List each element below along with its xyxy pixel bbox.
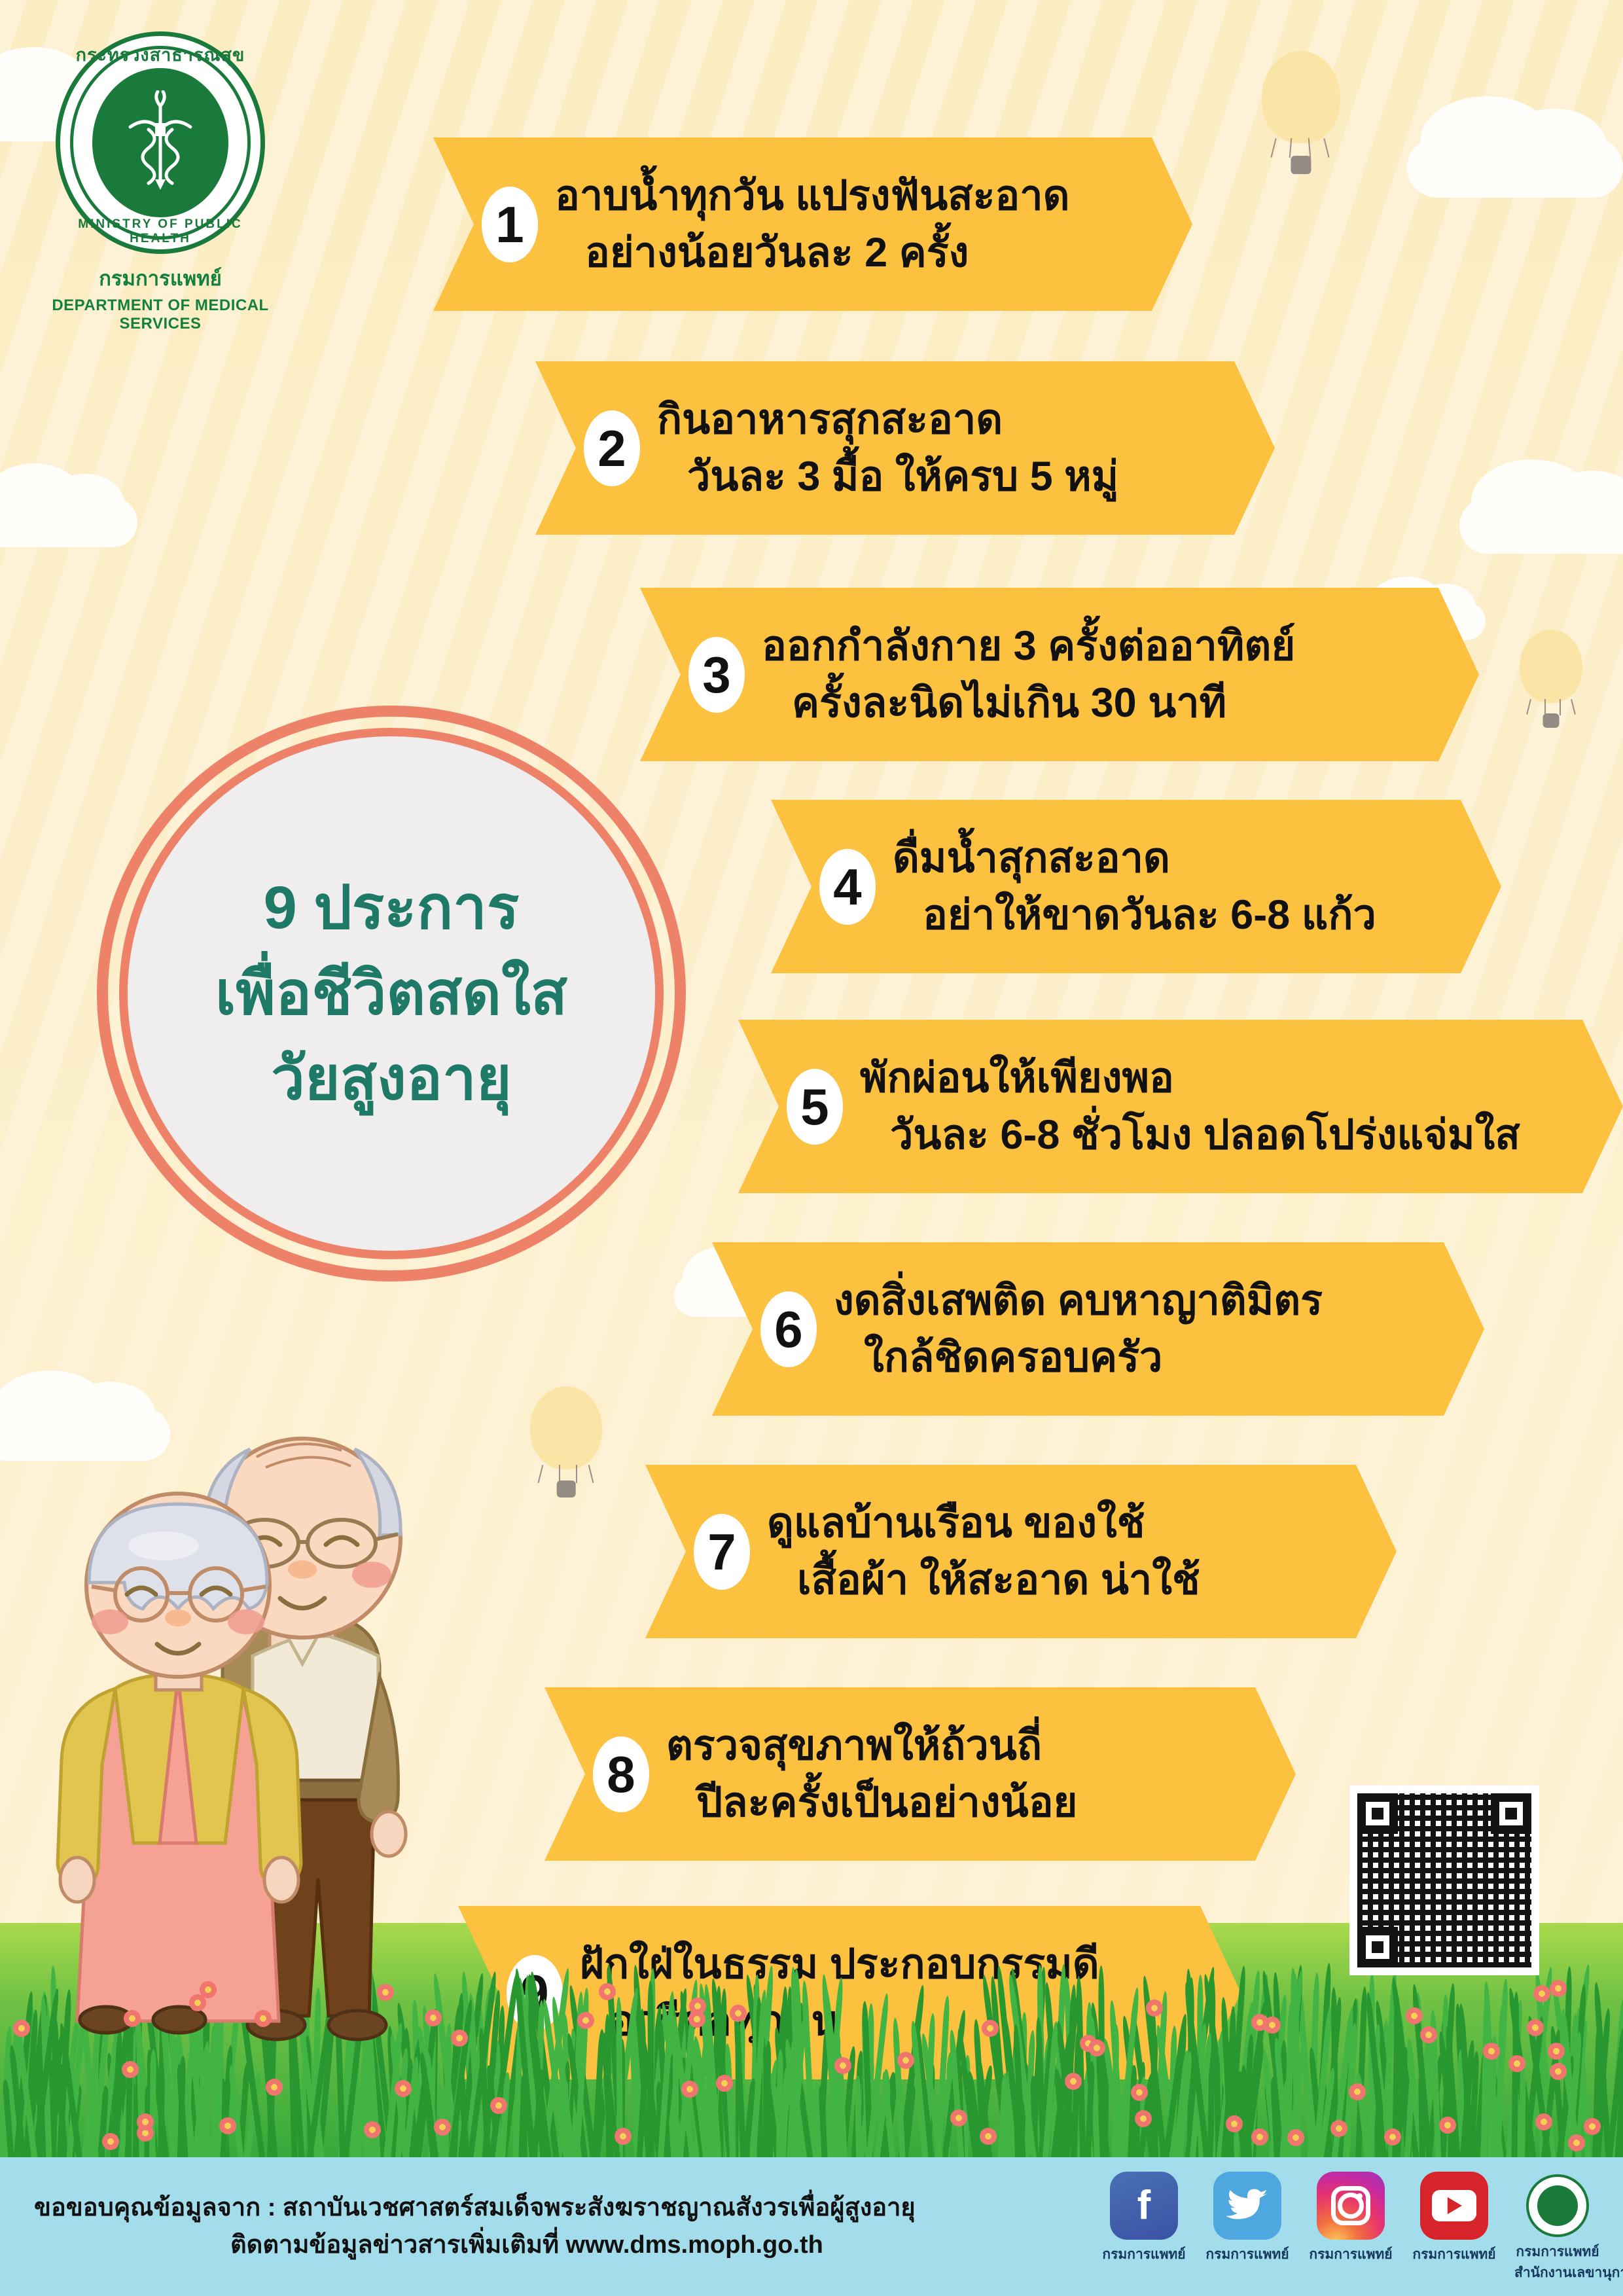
social-link-twitter[interactable]: กรมการแพทย์ — [1204, 2172, 1291, 2265]
tip-text: ดื่มน้ำสุกสะอาด อย่าให้ขาดวันละ 6-8 แก้ว — [893, 830, 1376, 944]
facebook-icon[interactable]: f — [1110, 2172, 1178, 2240]
social-caption-secondary: สำนักงานเลขานุการกรม — [1514, 2265, 1601, 2282]
tip-banner-8[interactable]: 8 ตรวจสุขภาพให้ถ้วนถี่ ปีละครั้งเป็นอย่า… — [544, 1687, 1296, 1861]
title-line-2: เพื่อชีวิตสดใส — [215, 951, 567, 1037]
tip-line-2: วันละ 6-8 ชั่วโมง ปลอดโปร่งแจ่มใส — [860, 1107, 1520, 1164]
tip-text: พักผ่อนให้เพียงพอ วันละ 6-8 ชั่วโมง ปลอด… — [860, 1050, 1520, 1164]
title-line-3: วัยสูงอายุ — [271, 1036, 511, 1122]
moph-seal-icon: กระทรวงสาธารณสุข MINISTRY OF PUBLIC HEAL… — [56, 31, 265, 254]
tip-number-badge: 8 — [593, 1736, 649, 1812]
social-caption: กรมการแพทย์ — [1308, 2244, 1394, 2265]
tip-line-2: ใกล้ชิดครอบครัว — [834, 1329, 1323, 1386]
tip-line-1: กินอาหารสุกสะอาด — [657, 391, 1118, 448]
moph-seal-icon — [1524, 2172, 1592, 2240]
tip-banner-5[interactable]: 5 พักผ่อนให้เพียงพอ วันละ 6-8 ชั่วโมง ปล… — [738, 1020, 1623, 1193]
tip-line-2: อย่างน้อยวันละ 2 ครั้ง — [555, 224, 1070, 281]
tip-text: ออกกำลังกาย 3 ครั้งต่ออาทิตย์ ครั้งละนิด… — [762, 618, 1295, 732]
tip-line-1: ตรวจสุขภาพให้ถ้วนถี่ — [666, 1717, 1077, 1774]
social-caption: กรมการแพทย์ — [1204, 2244, 1291, 2265]
department-name-en: DEPARTMENT OF MEDICAL SERVICES — [49, 296, 272, 333]
tip-banner-3[interactable]: 3 ออกกำลังกาย 3 ครั้งต่ออาทิตย์ ครั้งละน… — [640, 588, 1479, 761]
tip-line-1: พักผ่อนให้เพียงพอ — [860, 1050, 1520, 1107]
tip-line-2: ปีละครั้งเป็นอย่างน้อย — [666, 1774, 1077, 1831]
tip-text: ดูแลบ้านเรือน ของใช้ เสื้อผ้า ให้สะอาด น… — [767, 1495, 1200, 1609]
social-link-instagram[interactable]: กรมการแพทย์ — [1308, 2172, 1394, 2265]
tip-text: งดสิ่งเสพติด คบหาญาติมิตร ใกล้ชิดครอบครั… — [834, 1272, 1323, 1386]
tip-banner-7[interactable]: 7 ดูแลบ้านเรือน ของใช้ เสื้อผ้า ให้สะอาด… — [645, 1465, 1397, 1638]
seal-arc-top-text: กระทรวงสาธารณสุข — [56, 41, 265, 69]
twitter-icon[interactable] — [1213, 2172, 1281, 2240]
tip-line-1: งดสิ่งเสพติด คบหาญาติมิตร — [834, 1272, 1323, 1329]
caduceus-icon — [92, 68, 228, 217]
social-link-youtube[interactable]: กรมการแพทย์ — [1411, 2172, 1497, 2265]
seal-arc-bottom-text: MINISTRY OF PUBLIC HEALTH — [56, 217, 265, 246]
social-caption: กรมการแพทย์ — [1101, 2244, 1187, 2265]
tip-number-badge: 2 — [584, 410, 640, 486]
instagram-icon[interactable] — [1317, 2172, 1385, 2240]
footer-text-block: ขอขอบคุณข้อมูลจาก : สถาบันเวชศาสตร์สมเด็… — [0, 2189, 1101, 2264]
tip-line-2: อย่าให้ขาดวันละ 6-8 แก้ว — [893, 887, 1376, 944]
tip-number-badge: 6 — [760, 1291, 817, 1367]
youtube-icon[interactable] — [1420, 2172, 1488, 2240]
social-links-row: f กรมการแพทย์ กรมการแพทย์ กรมการแพทย์ กร… — [1101, 2172, 1623, 2282]
tip-number-badge: 7 — [694, 1514, 750, 1590]
footer-moph-logo-block[interactable]: กรมการแพทย์ สำนักงานเลขานุการกรม — [1514, 2172, 1601, 2282]
title-medallion: 9 ประการ เพื่อชีวิตสดใส วัยสูงอายุ — [97, 706, 686, 1282]
tip-number-badge: 1 — [482, 187, 538, 262]
social-caption: กรมการแพทย์ — [1514, 2244, 1601, 2261]
tip-number-badge: 5 — [787, 1069, 843, 1145]
department-name-th: กรมการแพทย์ — [49, 262, 272, 295]
hot-air-balloon-icon — [530, 1386, 602, 1499]
tip-line-2: ครั้งละนิดไม่เกิน 30 นาที — [762, 675, 1295, 732]
footer-follow: ติดตามข้อมูลข่าวสารเพิ่มเติมที่ www.dms.… — [34, 2227, 1101, 2264]
tip-line-1: ดื่มน้ำสุกสะอาด — [893, 830, 1376, 887]
tip-banner-2[interactable]: 2 กินอาหารสุกสะอาด วันละ 3 มื้อ ให้ครบ 5… — [535, 361, 1275, 535]
social-link-facebook[interactable]: f กรมการแพทย์ — [1101, 2172, 1187, 2265]
footer-credit: ขอขอบคุณข้อมูลจาก : สถาบันเวชศาสตร์สมเด็… — [34, 2189, 1101, 2227]
tip-line-2: วันละ 3 มื้อ ให้ครบ 5 หมู่ — [657, 448, 1118, 505]
tip-text: อาบน้ำทุกวัน แปรงฟันสะอาด อย่างน้อยวันละ… — [555, 168, 1070, 281]
hot-air-balloon-icon — [1520, 630, 1582, 729]
tip-banner-6[interactable]: 6 งดสิ่งเสพติด คบหาญาติมิตร ใกล้ชิดครอบค… — [712, 1242, 1484, 1416]
hot-air-balloon-icon — [1262, 51, 1340, 175]
tip-line-2: เสื้อผ้า ให้สะอาด น่าใช้ — [767, 1552, 1200, 1609]
tip-banner-1[interactable]: 1 อาบน้ำทุกวัน แปรงฟันสะอาด อย่างน้อยวัน… — [433, 137, 1192, 311]
ministry-logo-block: กระทรวงสาธารณสุข MINISTRY OF PUBLIC HEAL… — [49, 31, 272, 333]
cloud-icon — [1459, 497, 1623, 554]
social-caption: กรมการแพทย์ — [1411, 2244, 1497, 2265]
cloud-icon — [0, 497, 137, 547]
tip-banner-4[interactable]: 4 ดื่มน้ำสุกสะอาด อย่าให้ขาดวันละ 6-8 แก… — [771, 800, 1501, 973]
tip-line-1: ออกกำลังกาย 3 ครั้งต่ออาทิตย์ — [762, 618, 1295, 675]
footer-band: ขอขอบคุณข้อมูลจาก : สถาบันเวชศาสตร์สมเด็… — [0, 2157, 1623, 2296]
tip-line-1: อาบน้ำทุกวัน แปรงฟันสะอาด — [555, 168, 1070, 224]
tip-text: ตรวจสุขภาพให้ถ้วนถี่ ปีละครั้งเป็นอย่างน… — [666, 1717, 1077, 1831]
tip-number-badge: 3 — [688, 637, 745, 713]
qr-code[interactable] — [1349, 1785, 1539, 1975]
tip-text: กินอาหารสุกสะอาด วันละ 3 มื้อ ให้ครบ 5 ห… — [657, 391, 1118, 505]
tip-number-badge: 4 — [819, 849, 876, 925]
tip-line-1: ดูแลบ้านเรือน ของใช้ — [767, 1495, 1200, 1552]
title-line-1: 9 ประการ — [264, 865, 520, 951]
cloud-icon — [1407, 137, 1623, 198]
